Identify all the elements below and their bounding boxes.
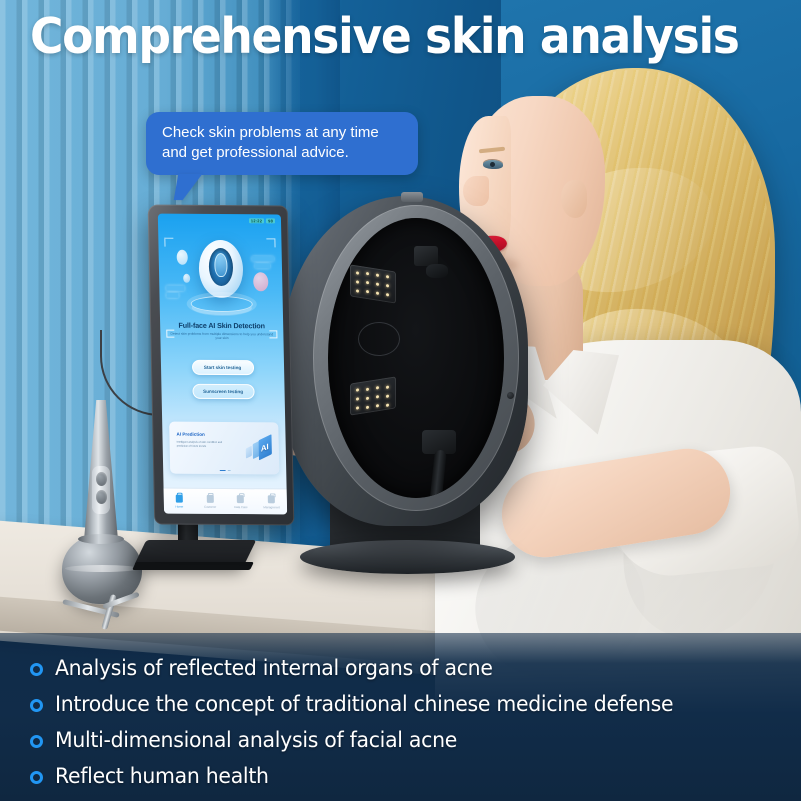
feature-list: Analysis of reflected internal organs of…	[30, 651, 790, 795]
sunscreen-testing-button[interactable]: Sunscreen testing	[192, 384, 254, 399]
lens-ring	[358, 322, 400, 356]
data-tag	[255, 263, 270, 268]
page-title: Comprehensive skin analysis	[30, 8, 737, 66]
ai-isometric-illustration: AI	[233, 429, 274, 467]
camera-lens-icon	[426, 264, 448, 278]
list-item: Analysis of reflected internal organs of…	[30, 651, 790, 687]
skin-analyzer-device	[283, 196, 528, 526]
analyzer-power-button[interactable]	[507, 392, 514, 399]
bullet-ring-icon	[30, 663, 43, 676]
bubble-decoration	[177, 250, 188, 265]
marketing-banner: 12:22 98 Full-face AI Skin Detection	[0, 0, 801, 801]
nav-item-management[interactable]: Management	[256, 495, 287, 509]
tablet-device: 12:22 98 Full-face AI Skin Detection	[148, 205, 295, 526]
data-icon	[237, 495, 244, 503]
analyzer-cavity	[328, 218, 504, 498]
bottom-navigation[interactable]: Home Customer Data Case Management	[164, 488, 288, 515]
frame-corner-icon	[164, 238, 173, 247]
ai-prediction-card[interactable]: AI Prediction Intelligent analysis of sk…	[169, 422, 279, 475]
face-silhouette-icon	[214, 253, 228, 277]
led-panel-bottom	[350, 376, 396, 415]
nav-label: Home	[164, 504, 195, 508]
tablet-screen[interactable]: 12:22 98 Full-face AI Skin Detection	[158, 214, 287, 515]
data-tag	[166, 286, 184, 291]
list-item: Reflect human health	[30, 759, 790, 795]
bubble-decoration	[183, 274, 190, 283]
probe-base-ring	[78, 534, 124, 544]
led-panel-top	[350, 264, 396, 303]
data-tag	[252, 256, 274, 261]
analyzer-top-notch	[401, 192, 423, 202]
screen-title: Full-face AI Skin Detection	[160, 321, 283, 331]
eye	[483, 160, 503, 169]
callout-text: Check skin problems at any time and get …	[146, 112, 418, 175]
iso-block	[246, 446, 252, 459]
feature-text: Introduce the concept of traditional chi…	[55, 692, 673, 718]
probe-stand-legs	[58, 592, 152, 626]
screen-subtitle: Detect skin problems from multiple dimen…	[168, 332, 275, 342]
management-icon	[268, 495, 275, 503]
carousel-dots[interactable]	[219, 470, 230, 471]
nav-item-customer[interactable]: Customer	[194, 494, 225, 508]
feature-text: Analysis of reflected internal organs of…	[55, 656, 493, 682]
data-tag	[166, 293, 178, 298]
nav-label: Management	[256, 505, 287, 509]
probe-button-bottom[interactable]	[96, 490, 107, 504]
card-description: Intelligent analysis of skin condition a…	[177, 441, 229, 449]
dot[interactable]	[227, 470, 230, 471]
card-title: AI Prediction	[176, 432, 204, 437]
tablet-stand-foot	[132, 562, 254, 570]
home-icon	[176, 494, 183, 502]
nav-label: Data Case	[225, 504, 256, 508]
bubble-decoration	[253, 272, 268, 291]
start-skin-testing-button[interactable]: Start skin testing	[191, 360, 253, 375]
feature-text: Reflect human health	[55, 764, 269, 790]
nav-label: Customer	[195, 504, 226, 508]
customer-icon	[206, 494, 213, 502]
scan-rings	[190, 296, 252, 312]
feature-text: Multi-dimensional analysis of facial acn…	[55, 728, 457, 754]
status-bar: 12:22 98	[249, 218, 275, 223]
list-item: Multi-dimensional analysis of facial acn…	[30, 723, 790, 759]
bullet-ring-icon	[30, 699, 43, 712]
dot-active[interactable]	[219, 470, 225, 471]
analyzer-base	[300, 540, 515, 574]
camera-module-icon	[414, 246, 438, 266]
callout-bubble: Check skin problems at any time and get …	[146, 112, 418, 175]
hero-graphic	[158, 230, 283, 315]
frame-corner-icon	[266, 238, 275, 247]
probe-button-top[interactable]	[96, 472, 107, 486]
nav-item-home[interactable]: Home	[164, 494, 195, 508]
ear	[561, 180, 587, 218]
status-time: 12:22	[249, 218, 264, 223]
bullet-ring-icon	[30, 771, 43, 784]
callout-tail	[174, 174, 203, 200]
status-battery: 98	[266, 218, 275, 223]
list-item: Introduce the concept of traditional chi…	[30, 687, 790, 723]
nav-item-data-case[interactable]: Data Case	[225, 494, 256, 508]
bullet-ring-icon	[30, 735, 43, 748]
